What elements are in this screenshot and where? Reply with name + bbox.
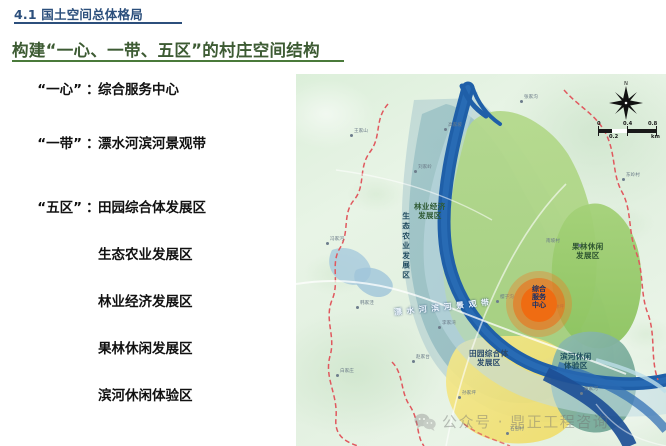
zone-label-orchard-leisure: 果林休闲 发展区 [572,242,604,261]
village-dot [458,396,461,399]
section-header-rule [14,22,182,24]
list-item-wuqu-4: “五区” ： 果林休闲发展区 [0,337,296,357]
svg-text:N: N [624,81,628,87]
village-dot [438,326,441,329]
list-item-key: “五区” [0,196,86,216]
village-dot [496,300,499,303]
list-item-colon: ： [86,78,98,98]
list-item-yidai: “一带” ： 漂水河滨河景观带 [0,132,296,152]
village-dot [412,360,415,363]
village-dot [578,244,581,247]
scale-unit: km [651,134,660,140]
scale-tick-04: 0.4 [623,121,632,127]
village-dot [326,242,329,245]
village-name: 南坡村 [546,238,560,244]
village-name: 白家庄 [340,368,354,374]
scale-tick-02: 0.2 [609,134,618,140]
scale-tick-0: 0 [597,121,601,127]
village-dot [580,392,583,395]
page-title: 构建“一心、一带、五区”的村庄空间结构 [12,37,320,61]
slide-page: 4.1 国土空间总体格局 构建“一心、一带、五区”的村庄空间结构 “一心” ： … [0,0,666,446]
watermark: 公众号 · 鼎正工程咨询 [414,411,609,432]
village-dot [444,128,447,131]
zone-label-riverside-leisure: 滨河休闲 体验区 [560,352,592,371]
village-name: 王家山 [354,128,368,134]
village-dot [350,134,353,137]
list-item-value: 漂水河滨河景观带 [98,132,206,152]
list-item-wuqu-3: “五区” ： 林业经济发展区 [0,290,296,310]
list-item-wuqu: “五区” ： 田园综合体发展区 [0,196,296,216]
village-name: 冯家河 [330,236,344,242]
village-dot [356,306,359,309]
village-name: 高家坡 [448,122,462,128]
village-dot [622,178,625,181]
list-item-yixin: “一心” ： 综合服务中心 [0,78,296,98]
list-item-key: “一心” [0,78,86,98]
village-name: 张家沟 [524,94,538,100]
village-dot [520,100,523,103]
village-name: 东岭村 [626,172,640,178]
list-item-colon: ： [86,132,98,152]
village-dot [506,432,509,435]
list-item-value: 田园综合体发展区 [98,196,206,216]
list-item-wuqu-2: “五区” ： 生态农业发展区 [0,243,296,263]
list-item-value: 综合服务中心 [98,78,179,98]
list-item-wuqu-5: “五区” ： 滨河休闲体验区 [0,384,296,404]
page-title-underline [12,60,344,62]
watermark-text: 公众号 · 鼎正工程咨询 [442,411,609,432]
zone-label-rural-complex: 田园综合体 发展区 [469,349,508,368]
map-scale-bar: 0 0.2 0.4 0.8 km [598,120,662,142]
section-header-label: 4.1 国土空间总体格局 [14,4,143,23]
scale-tick-08: 0.8 [648,121,657,127]
list-item-colon: ： [86,196,98,216]
spatial-structure-list: “一心” ： 综合服务中心 “一带” ： 漂水河滨河景观带 “五区” ： 田园综… [0,78,296,404]
zone-label-eco-agriculture: 生态农业发展区 [402,180,410,312]
comprehensive-service-center-node: 综合 服务 中心 [506,271,572,337]
list-item-value: 林业经济发展区 [98,290,193,310]
village-name: 李家湾 [442,320,456,326]
list-item-value: 滨河休闲体验区 [98,384,193,404]
node-label: 综合 服务 中心 [506,285,572,309]
village-name: 刘家岭 [418,164,432,170]
village-name: 黄家河 [584,386,598,392]
village-dot [336,374,339,377]
village-dot [414,170,417,173]
list-item-key: “一带” [0,132,86,152]
village-name: 赵家台 [416,354,430,360]
wechat-icon [414,413,436,431]
village-name: 韩家洼 [360,300,374,306]
north-arrow-icon: N [606,78,646,120]
zone-label-forestry-economy: 林业经济 发展区 [414,202,446,221]
list-item-value: 果林休闲发展区 [98,337,193,357]
village-name: 孙家坪 [462,390,476,396]
list-item-value: 生态农业发展区 [98,243,193,263]
